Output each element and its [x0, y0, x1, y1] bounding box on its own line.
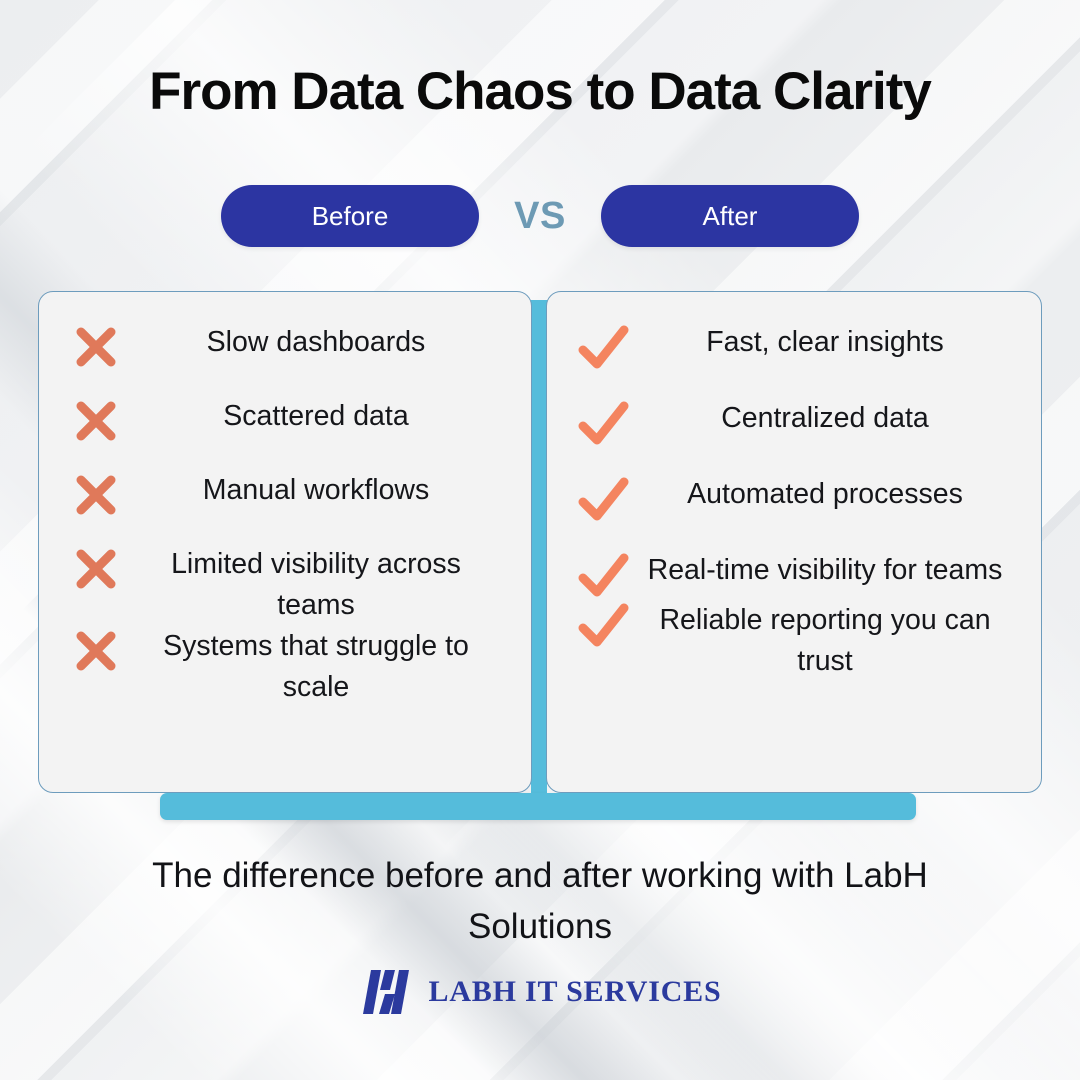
x-icon — [57, 544, 135, 592]
list-item-label: Scattered data — [135, 396, 513, 437]
check-icon — [565, 474, 643, 524]
list-item: Systems that struggle to scale — [57, 626, 513, 708]
list-item-label: Manual workflows — [135, 470, 513, 511]
teal-base-bar-horizontal — [160, 793, 916, 820]
after-card: Fast, clear insights Centralized data Au… — [546, 291, 1042, 793]
vs-label: VS — [479, 195, 601, 238]
x-icon — [57, 396, 135, 444]
logo-wordmark: LABH IT SERVICES — [429, 975, 722, 1009]
x-icon — [57, 322, 135, 370]
after-list: Fast, clear insights Centralized data Au… — [547, 292, 1041, 792]
check-icon — [565, 600, 643, 650]
check-icon — [565, 550, 643, 600]
list-item: Reliable reporting you can trust — [565, 600, 1023, 682]
list-item-label: Slow dashboards — [135, 322, 513, 363]
list-item: Fast, clear insights — [565, 322, 1023, 372]
list-item: Centralized data — [565, 398, 1023, 448]
infographic-canvas: From Data Chaos to Data Clarity Before V… — [0, 0, 1080, 1080]
list-item: Real-time visibility for teams — [565, 550, 1023, 600]
comparison-header: Before VS After — [0, 185, 1080, 247]
x-icon — [57, 470, 135, 518]
list-item: Automated processes — [565, 474, 1023, 524]
list-item: Slow dashboards — [57, 322, 513, 370]
x-icon — [57, 626, 135, 674]
check-icon — [565, 322, 643, 372]
after-pill-button[interactable]: After — [601, 185, 859, 247]
list-item-label: Real-time visibility for teams — [643, 550, 1023, 591]
before-pill-button[interactable]: Before — [221, 185, 479, 247]
list-item: Limited visibility across teams — [57, 544, 513, 626]
labh-logo-mark-icon — [359, 968, 415, 1016]
before-card: Slow dashboards Scattered data — [38, 291, 532, 793]
list-item-label: Centralized data — [643, 398, 1023, 439]
list-item: Manual workflows — [57, 470, 513, 518]
brand-logo: LABH IT SERVICES — [0, 968, 1080, 1016]
footer-caption: The difference before and after working … — [90, 851, 990, 953]
teal-divider-vertical — [531, 300, 547, 797]
list-item-label: Fast, clear insights — [643, 322, 1023, 363]
page-title: From Data Chaos to Data Clarity — [0, 62, 1080, 121]
list-item-label: Reliable reporting you can trust — [643, 600, 1023, 682]
before-list: Slow dashboards Scattered data — [39, 292, 531, 792]
list-item-label: Systems that struggle to scale — [135, 626, 513, 708]
check-icon — [565, 398, 643, 448]
list-item-label: Automated processes — [643, 474, 1023, 515]
list-item-label: Limited visibility across teams — [135, 544, 513, 626]
list-item: Scattered data — [57, 396, 513, 444]
